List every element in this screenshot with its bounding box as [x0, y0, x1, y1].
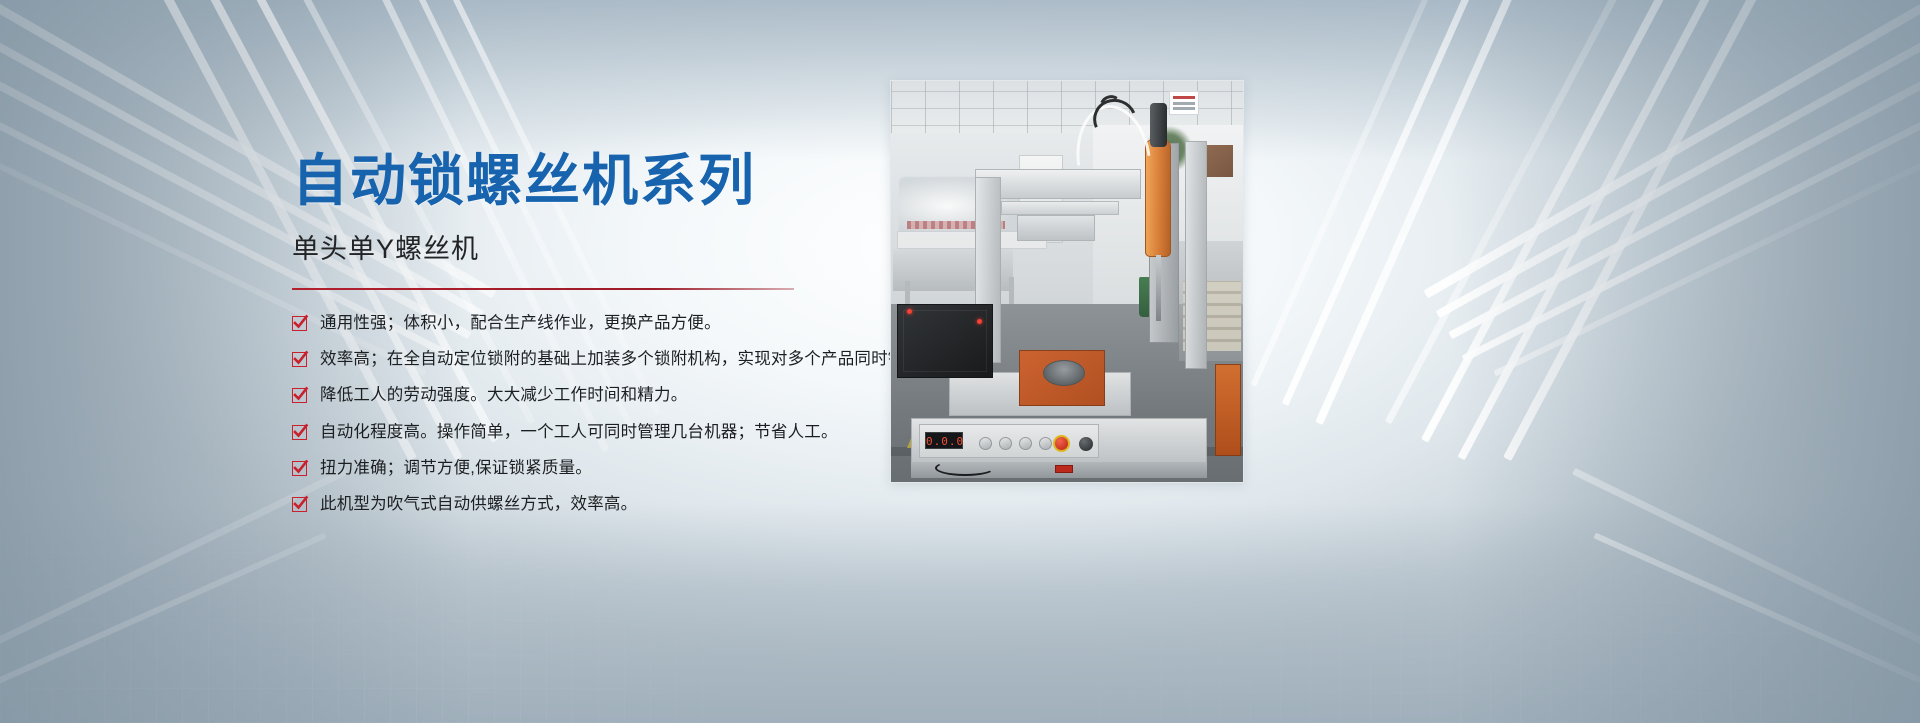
machine-right-rail [1185, 141, 1207, 369]
machine-counter-display: 0.0.0 [925, 432, 963, 449]
feature-text: 此机型为吹气式自动供螺丝方式，效率高。 [320, 493, 637, 515]
check-icon [292, 497, 307, 512]
machine-indicator-led [907, 309, 912, 314]
product-photo: 0.0.0 [891, 81, 1243, 482]
machine-selector-knob [1079, 437, 1093, 451]
list-item: 自动化程度高。操作简单，一个工人可同时管理几台机器；节省人工。 [292, 421, 992, 443]
check-icon [292, 461, 307, 476]
list-item: 降低工人的劳动强度。大大减少工作时间和精力。 [292, 384, 992, 406]
page-subtitle: 单头单Y螺丝机 [292, 227, 992, 266]
machine-emergency-stop [1053, 435, 1070, 452]
check-icon [292, 425, 307, 440]
check-icon [292, 316, 307, 331]
machine-power-switch [1055, 465, 1073, 473]
machine-button-row [979, 437, 1052, 450]
machine-screwdriver-cap [1150, 103, 1167, 147]
photo-wall-poster [1169, 91, 1199, 115]
feature-list: 通用性强；体积小，配合生产线作业，更换产品方便。 效率高；在全自动定位锁附的基础… [292, 312, 992, 516]
feature-text: 效率高；在全自动定位锁附的基础上加装多个锁附机构，实现对多个产品同时锁附。 [320, 348, 938, 370]
product-banner: 自动锁螺丝机系列 单头单Y螺丝机 通用性强；体积小，配合生产线作业，更换产品方便… [0, 0, 1920, 723]
machine-electric-screwdriver [1145, 139, 1171, 257]
feature-text: 自动化程度高。操作简单，一个工人可同时管理几台机器；节省人工。 [320, 421, 838, 443]
machine-button [979, 437, 992, 450]
page-title: 自动锁螺丝机系列 [292, 150, 992, 213]
feature-text: 降低工人的劳动强度。大大减少工作时间和精力。 [320, 384, 687, 406]
list-item: 通用性强；体积小，配合生产线作业，更换产品方便。 [292, 312, 992, 334]
machine-screwdriver-bit [1156, 255, 1161, 321]
list-item: 此机型为吹气式自动供螺丝方式，效率高。 [292, 493, 992, 515]
vignette-right [1450, 0, 1920, 723]
feature-text: 通用性强；体积小，配合生产线作业，更换产品方便。 [320, 312, 721, 334]
feature-text: 扭力准确；调节方便,保证锁紧质量。 [320, 457, 592, 479]
machine-controller-box [897, 304, 993, 378]
machine-screw-feeder [1215, 364, 1241, 456]
machine-workpiece [1043, 360, 1085, 386]
check-icon [292, 388, 307, 403]
banner-content: 自动锁螺丝机系列 单头单Y螺丝机 通用性强；体积小，配合生产线作业，更换产品方便… [292, 150, 992, 529]
list-item: 扭力准确；调节方便,保证锁紧质量。 [292, 457, 992, 479]
title-divider [292, 288, 794, 290]
product-photo-frame: 0.0.0 [890, 80, 1244, 483]
list-item: 效率高；在全自动定位锁附的基础上加装多个锁附机构，实现对多个产品同时锁附。 [292, 348, 992, 370]
machine-carriage [1017, 215, 1095, 241]
machine-floor-cable [935, 460, 995, 476]
machine-button [1019, 437, 1032, 450]
check-icon [292, 352, 307, 367]
machine-indicator-led [977, 319, 982, 324]
machine-linear-track [1001, 201, 1119, 215]
machine-button [999, 437, 1012, 450]
machine-button [1039, 437, 1052, 450]
